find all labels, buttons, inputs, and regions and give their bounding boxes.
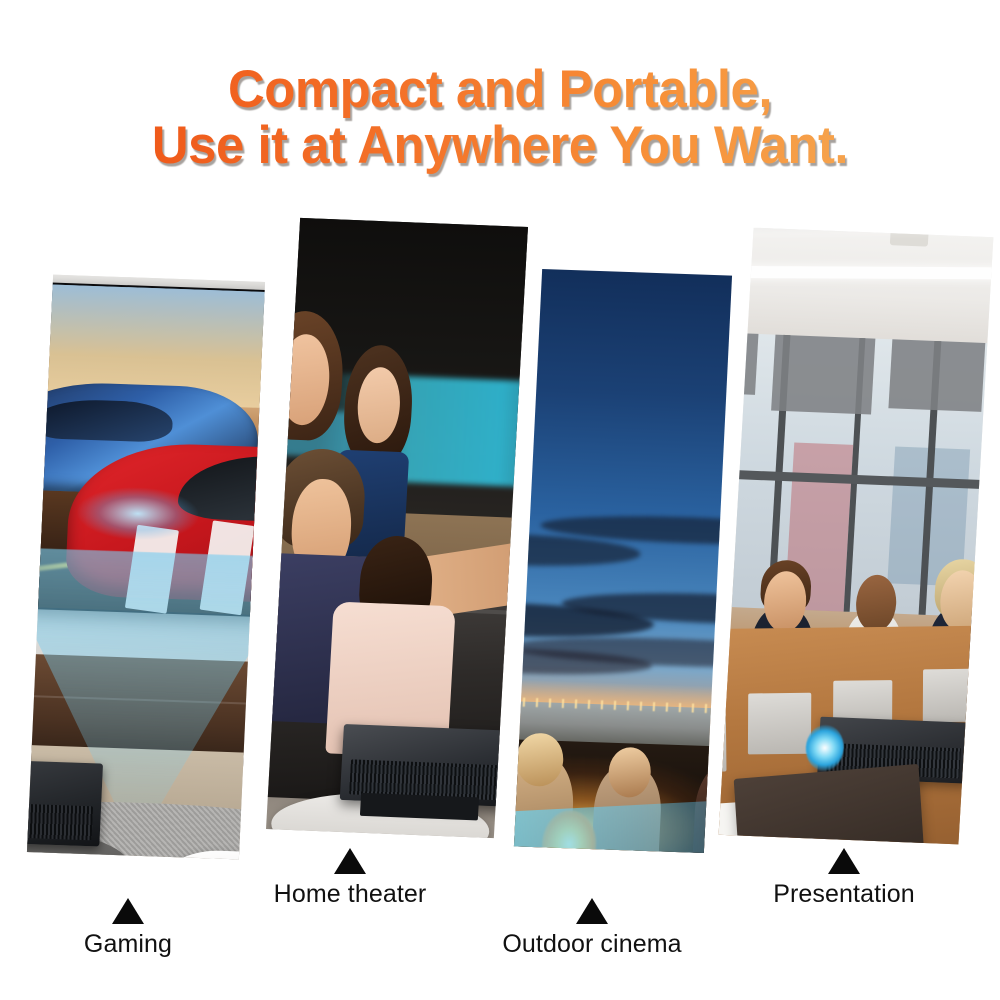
- panel-presentation-clip: [719, 228, 994, 845]
- page-title: Compact and Portable, Use it at Anywhere…: [0, 62, 1000, 174]
- panel-home-theater: [266, 218, 528, 838]
- up-triangle-icon-home-theater: [334, 848, 366, 874]
- panel-outdoor-cinema-clip: [514, 269, 732, 853]
- headline-line-2: Use it at Anywhere You Want.: [20, 118, 980, 174]
- product-feature-banner: Compact and Portable, Use it at Anywhere…: [0, 0, 1000, 1000]
- caption-gaming: Gaming: [84, 930, 172, 959]
- up-triangle-icon-presentation: [828, 848, 860, 874]
- up-triangle-icon-gaming: [112, 898, 144, 924]
- headline-line-1: Compact and Portable,: [20, 62, 980, 118]
- photo-home-theater: [266, 218, 528, 838]
- photo-gaming: [27, 275, 265, 860]
- panel-gaming: [27, 275, 265, 860]
- projector-device-gaming: [27, 758, 103, 846]
- caption-presentation: Presentation: [773, 880, 915, 909]
- panel-home-theater-clip: [266, 218, 528, 838]
- panel-outdoor-cinema: [514, 269, 732, 853]
- photo-presentation: [719, 228, 994, 845]
- up-triangle-icon-outdoor: [576, 898, 608, 924]
- caption-outdoor-cinema: Outdoor cinema: [502, 930, 681, 959]
- panel-presentation: [719, 228, 994, 845]
- panel-gaming-clip: [27, 275, 265, 860]
- photo-outdoor-cinema: [514, 269, 732, 853]
- open-laptop-foreground: [734, 764, 927, 845]
- caption-home-theater: Home theater: [274, 880, 427, 909]
